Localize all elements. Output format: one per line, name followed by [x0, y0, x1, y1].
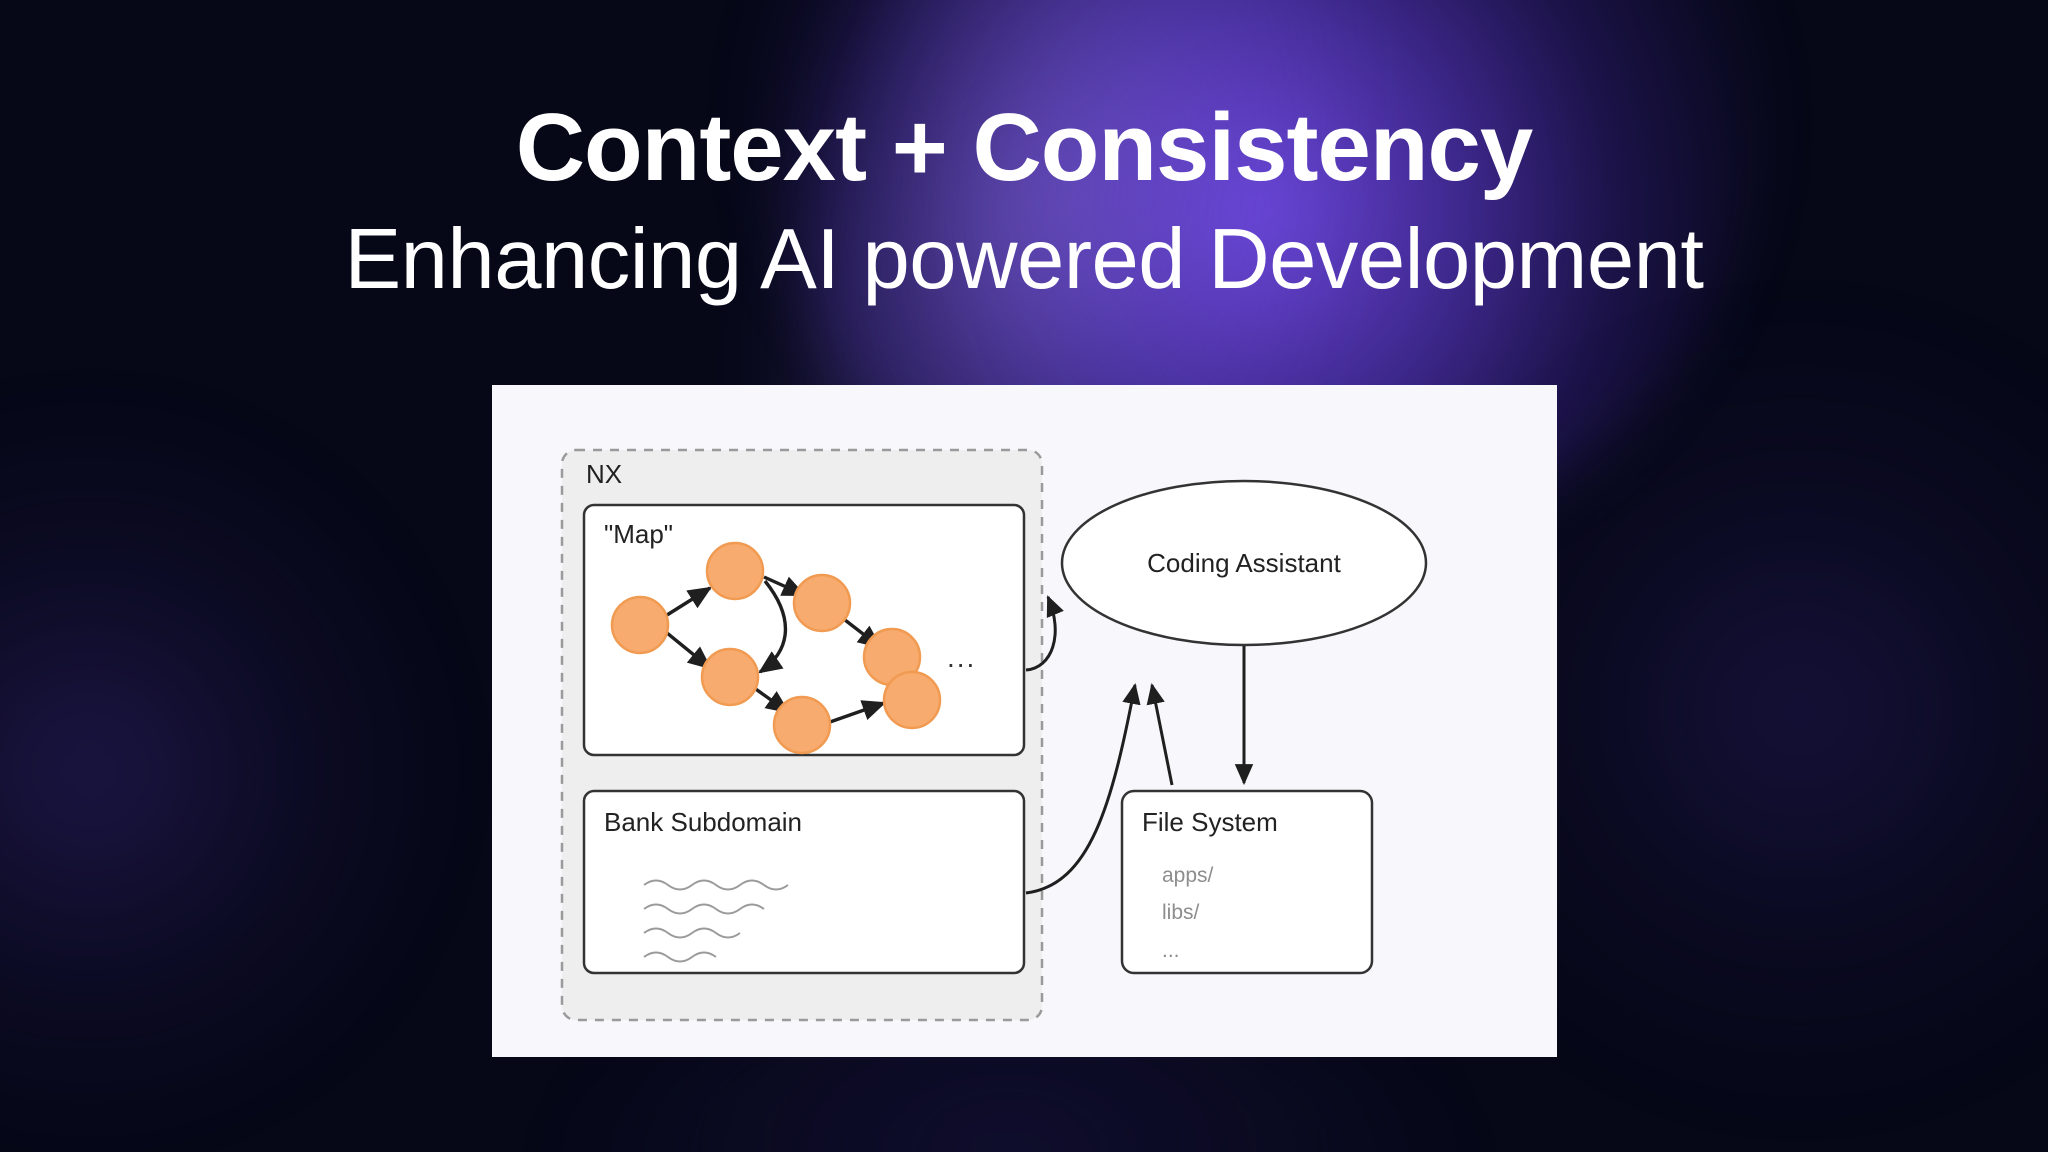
file-system-item: libs/	[1162, 901, 1200, 924]
slide-title: Context + Consistency	[0, 0, 2048, 199]
diagram-panel: NX "Map" ... Bank Subdomain Coding Assis…	[492, 385, 1557, 1057]
slide-subtitle: Enhancing AI powered Development	[0, 199, 2048, 304]
file-system-item: ...	[1162, 939, 1180, 962]
file-system-label: File System	[1142, 807, 1278, 837]
purple-glow-left	[0, 420, 440, 1120]
graph-ellipsis: ...	[947, 642, 976, 673]
nx-group-label: NX	[586, 459, 622, 489]
slide-header: Context + Consistency Enhancing AI power…	[0, 0, 2048, 304]
edge-filesystem-to-assistant	[1152, 685, 1172, 785]
architecture-diagram: NX "Map" ... Bank Subdomain Coding Assis…	[492, 385, 1557, 1057]
graph-node	[774, 697, 830, 753]
coding-assistant-label: Coding Assistant	[1147, 548, 1341, 578]
map-box-label: "Map"	[604, 519, 673, 549]
bank-subdomain-label: Bank Subdomain	[604, 807, 802, 837]
graph-node	[702, 649, 758, 705]
graph-node	[884, 672, 940, 728]
graph-node	[612, 597, 668, 653]
file-system-item: apps/	[1162, 864, 1214, 887]
graph-node	[707, 543, 763, 599]
graph-node	[794, 575, 850, 631]
